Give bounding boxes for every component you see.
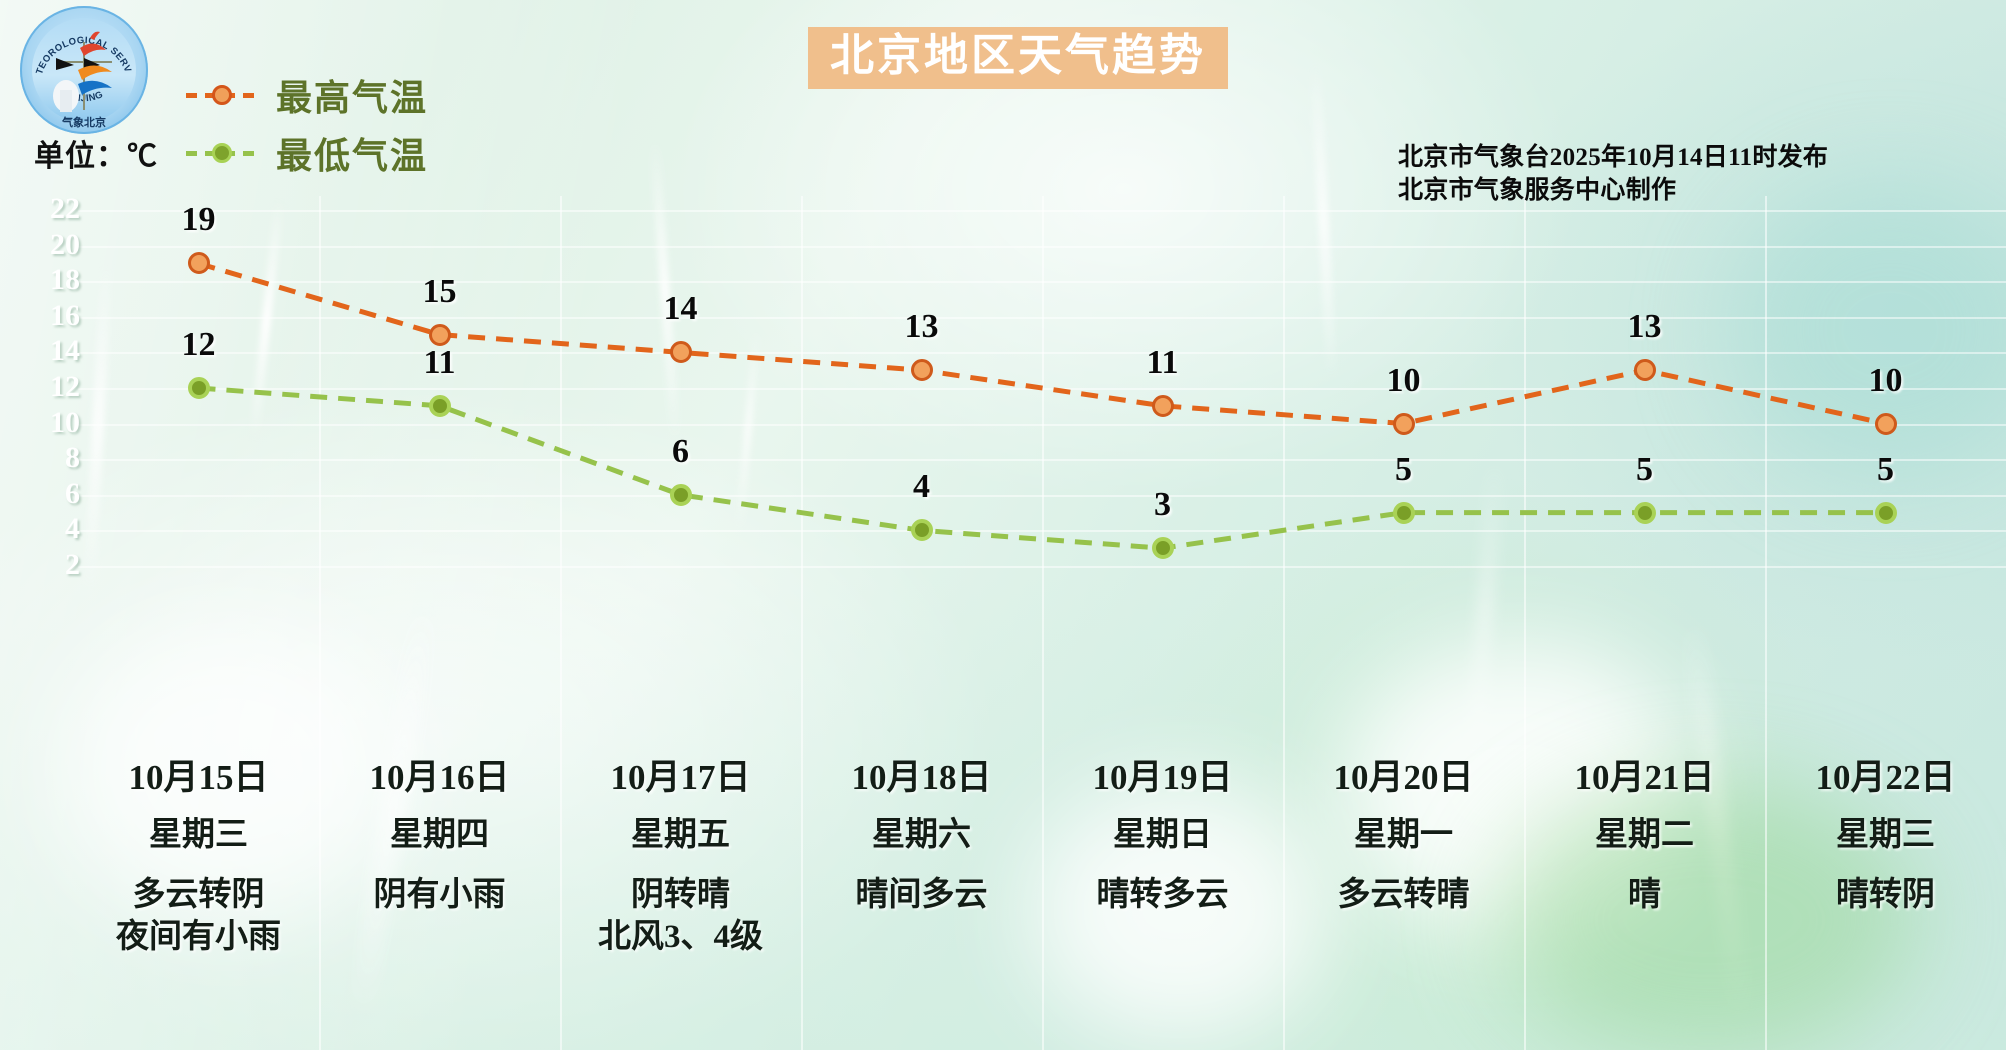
y-axis-tick: 12 [18,372,80,402]
y-axis-tick: 2 [18,550,80,580]
day-weekday: 星期一 [1283,818,1524,853]
day-weather: 晴转多云 [1042,875,1283,917]
day-weather: 阴有小雨 [319,875,560,917]
y-axis-tick: 20 [18,230,80,260]
day-weekday: 星期五 [560,818,801,853]
y-axis: 222018161412108642 [18,0,80,1050]
y-axis-tick: 6 [18,479,80,509]
publisher-info: 北京市气象台2025年10月14日11时发布 北京市气象服务中心制作 [1398,141,1828,207]
day-weather: 阴转晴 [560,875,801,917]
day-column[interactable]: 10月21日星期二晴 [1524,760,1765,959]
day-weather: 晴 [1524,875,1765,917]
publisher-line-1: 北京市气象台2025年10月14日11时发布 [1398,141,1828,174]
day-weather: 晴转阴 [1765,875,2006,917]
day-weather-secondary: 夜间有小雨 [78,917,319,959]
day-date: 10月18日 [801,760,1042,797]
day-column[interactable]: 10月22日星期三晴转阴 [1765,760,2006,959]
day-date: 10月16日 [319,760,560,797]
day-date: 10月15日 [78,760,319,797]
day-date: 10月20日 [1283,760,1524,797]
day-columns: 10月15日星期三多云转阴夜间有小雨10月16日星期四阴有小雨10月17日星期五… [78,760,2006,959]
day-column[interactable]: 10月20日星期一多云转晴 [1283,760,1524,959]
day-weekday: 星期四 [319,818,560,853]
y-axis-tick: 14 [18,336,80,366]
y-axis-tick: 10 [18,408,80,438]
chart-legend: 最高气温 最低气温 [186,66,428,182]
day-column[interactable]: 10月18日星期六晴间多云 [801,760,1042,959]
day-column[interactable]: 10月15日星期三多云转阴夜间有小雨 [78,760,319,959]
y-axis-tick: 4 [18,514,80,544]
legend-item-low[interactable]: 最低气温 [186,124,428,182]
day-column[interactable]: 10月16日星期四阴有小雨 [319,760,560,959]
day-date: 10月17日 [560,760,801,797]
legend-label-low: 最低气温 [276,127,428,179]
legend-marker-high [186,85,260,105]
page-title: 北京地区天气趋势 [830,34,1206,78]
legend-marker-low [186,143,260,163]
y-axis-tick: 16 [18,301,80,331]
day-weekday: 星期三 [1765,818,2006,853]
day-weekday: 星期六 [801,818,1042,853]
day-weekday: 星期日 [1042,818,1283,853]
day-date: 10月21日 [1524,760,1765,797]
day-weekday: 星期三 [78,818,319,853]
chart-title-band: 北京地区天气趋势 [808,27,1228,89]
day-column[interactable]: 10月17日星期五阴转晴北风3、4级 [560,760,801,959]
day-date: 10月19日 [1042,760,1283,797]
weather-trend-infographic: METEOROLOGICAL SERVICE BEIJING 气象北京 北京地区… [0,0,2006,1050]
y-axis-tick: 8 [18,443,80,473]
publisher-line-2: 北京市气象服务中心制作 [1398,174,1828,207]
day-date: 10月22日 [1765,760,2006,797]
y-axis-tick: 18 [18,265,80,295]
day-weather: 晴间多云 [801,875,1042,917]
y-axis-tick: 22 [18,194,80,224]
legend-item-high[interactable]: 最高气温 [186,66,428,124]
legend-label-high: 最高气温 [276,69,428,121]
day-weather: 多云转阴 [78,875,319,917]
day-weather-secondary: 北风3、4级 [560,917,801,959]
day-column[interactable]: 10月19日星期日晴转多云 [1042,760,1283,959]
day-weather: 多云转晴 [1283,875,1524,917]
day-weekday: 星期二 [1524,818,1765,853]
